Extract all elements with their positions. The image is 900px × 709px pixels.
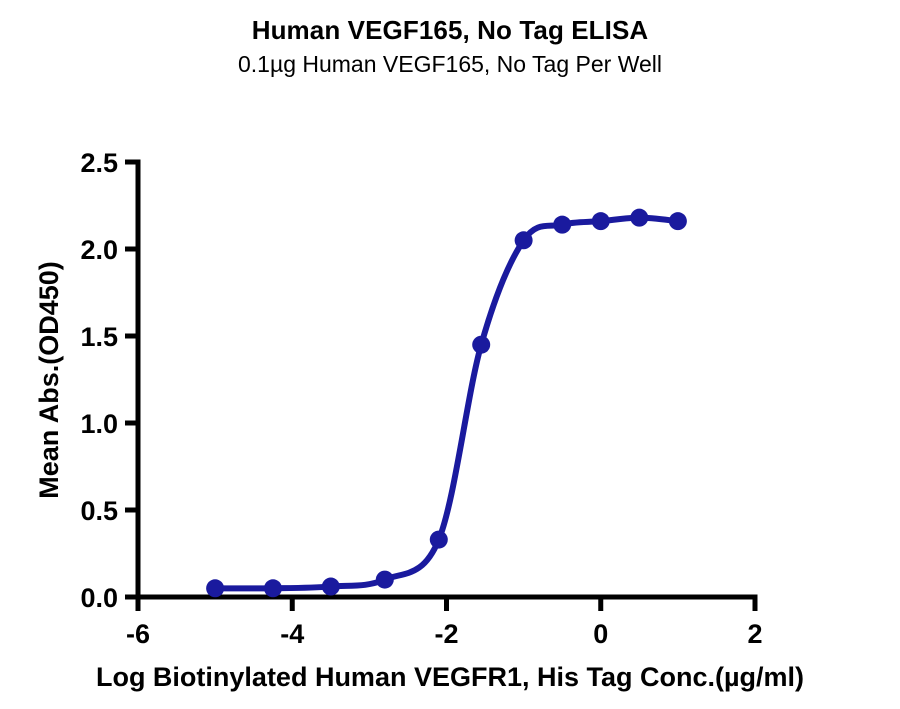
x-tick-label: 0 bbox=[593, 619, 608, 649]
data-point-marker bbox=[206, 579, 224, 597]
y-tick-label: 1.0 bbox=[80, 409, 118, 439]
y-tick-label: 2.0 bbox=[80, 235, 118, 265]
data-point-marker bbox=[630, 209, 648, 227]
x-axis-title: Log Biotinylated Human VEGFR1, His Tag C… bbox=[96, 662, 804, 692]
plot-area: Mean Abs.(OD450) 0.00.51.01.52.02.5 -6-4… bbox=[0, 0, 900, 709]
data-point-marker bbox=[553, 216, 571, 234]
data-point-marker bbox=[376, 571, 394, 589]
x-tick-group: -6-4-202 bbox=[126, 597, 763, 649]
chart-figure: Human VEGF165, No Tag ELISA 0.1µg Human … bbox=[0, 0, 900, 709]
series-line-human-vegf165 bbox=[215, 218, 678, 589]
y-axis-title: Mean Abs.(OD450) bbox=[34, 261, 64, 499]
x-tick-label: 2 bbox=[747, 619, 762, 649]
x-tick-label: -2 bbox=[434, 619, 458, 649]
data-point-marker bbox=[592, 212, 610, 230]
axis-lines bbox=[138, 162, 755, 597]
data-series-group bbox=[206, 209, 687, 598]
data-point-marker bbox=[264, 579, 282, 597]
data-point-marker bbox=[322, 578, 340, 596]
y-tick-label: 0.5 bbox=[80, 496, 118, 526]
y-tick-label: 0.0 bbox=[80, 583, 118, 613]
data-point-marker bbox=[472, 336, 490, 354]
y-tick-label: 1.5 bbox=[80, 322, 118, 352]
x-tick-label: -4 bbox=[280, 619, 304, 649]
data-point-marker bbox=[430, 531, 448, 549]
y-tick-label: 2.5 bbox=[80, 148, 118, 178]
series-markers bbox=[206, 209, 687, 598]
x-tick-label: -6 bbox=[126, 619, 150, 649]
y-tick-group: 0.00.51.01.52.02.5 bbox=[80, 148, 138, 613]
data-point-marker bbox=[669, 212, 687, 230]
data-point-marker bbox=[515, 231, 533, 249]
